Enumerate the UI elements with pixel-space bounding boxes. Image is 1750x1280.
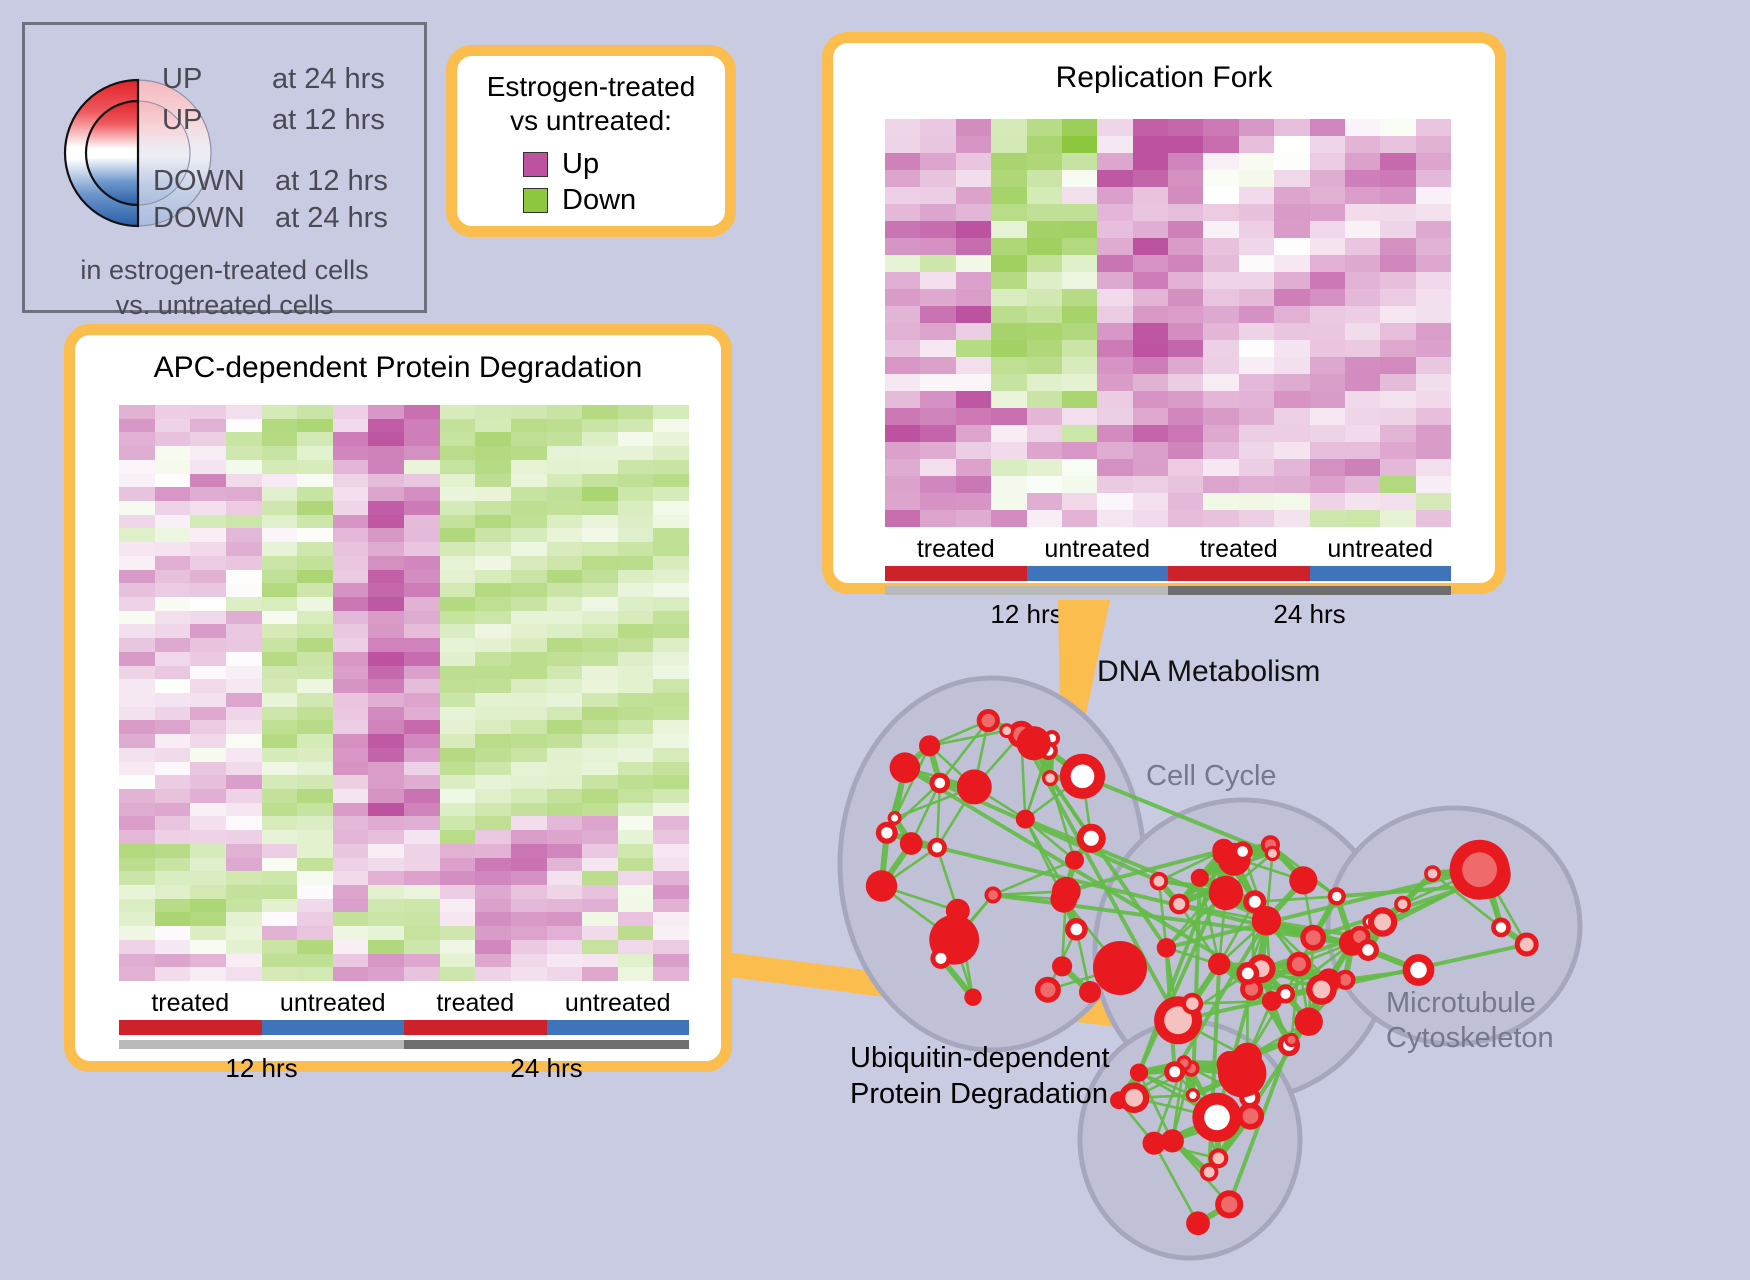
heatmap-cell	[119, 624, 155, 638]
network-node[interactable]	[1300, 925, 1326, 951]
network-node[interactable]	[1200, 1163, 1219, 1182]
heatmap-cell	[440, 570, 476, 584]
heatmap-cell	[1062, 476, 1097, 493]
heatmap-cell	[1345, 476, 1380, 493]
heatmap-cell	[1380, 340, 1415, 357]
network-node[interactable]	[1515, 933, 1539, 957]
heatmap-cell	[1310, 442, 1345, 459]
legend-item-down: Down	[523, 184, 725, 217]
heatmap-cell	[404, 474, 440, 488]
network-node[interactable]	[927, 838, 947, 858]
network-node[interactable]	[1306, 974, 1337, 1005]
heatmap-cell	[119, 405, 155, 419]
network-node[interactable]	[1243, 890, 1266, 913]
heatmap-cell	[404, 940, 440, 954]
network-node[interactable]	[1182, 993, 1204, 1015]
heatmap-cell	[119, 528, 155, 542]
heatmap-cell	[1345, 357, 1380, 374]
heatmap-cell	[991, 323, 1026, 340]
heatmap-cell	[440, 624, 476, 638]
network-node[interactable]	[1052, 956, 1072, 976]
network-node[interactable]	[1213, 844, 1234, 865]
heatmap-cell	[297, 611, 333, 625]
heatmap-cell	[1168, 442, 1203, 459]
heatmap-cell	[547, 775, 583, 789]
heatmap-cell	[262, 542, 298, 556]
heatmap-cell	[333, 611, 369, 625]
node-inner-core	[1040, 982, 1055, 997]
network-node[interactable]	[1295, 1008, 1323, 1036]
network-node[interactable]	[1328, 887, 1346, 905]
heatmap-cell	[368, 679, 404, 693]
heatmap-cell	[1416, 442, 1451, 459]
heatmap-cell	[262, 830, 298, 844]
network-node[interactable]	[1161, 1129, 1184, 1152]
heatmap-cell	[119, 556, 155, 570]
network-node[interactable]	[1209, 876, 1243, 910]
heatmap-cell	[511, 967, 547, 981]
timepoint-label: 12 hrs	[119, 1053, 404, 1084]
heatmap-cell	[440, 830, 476, 844]
heatmap-cell	[475, 748, 511, 762]
network-node[interactable]	[999, 723, 1014, 738]
heatmap-cell	[262, 652, 298, 666]
heatmap-cell	[226, 858, 262, 872]
heatmap-cell	[475, 652, 511, 666]
heatmap-cell	[119, 871, 155, 885]
heatmap-cell	[547, 624, 583, 638]
heatmap-cell	[991, 255, 1026, 272]
network-node[interactable]	[1357, 939, 1379, 961]
network-node[interactable]	[957, 769, 992, 804]
network-node[interactable]	[1186, 1088, 1200, 1102]
network-node[interactable]	[1450, 840, 1510, 900]
network-node[interactable]	[890, 752, 921, 783]
heatmap-cell	[404, 858, 440, 872]
legend-key-up-12: UP	[162, 104, 202, 137]
heatmap-cell	[653, 666, 689, 680]
heatmap-cell	[1345, 425, 1380, 442]
network-node[interactable]	[1186, 1211, 1210, 1235]
heatmap-cell	[1274, 187, 1309, 204]
node-outer-ring	[1157, 938, 1176, 957]
heatmap-cell	[155, 528, 191, 542]
heatmap-cell	[190, 762, 226, 776]
heatmap-cell	[1310, 306, 1345, 323]
condition-bar-replication-fork	[885, 566, 1451, 581]
heatmap-cell	[475, 638, 511, 652]
heatmap-cell	[1203, 153, 1238, 170]
heatmap-cell	[1062, 493, 1097, 510]
panel-replication-fork: Replication Fork treateduntreatedtreated…	[822, 32, 1506, 594]
heatmap-cell	[511, 871, 547, 885]
heatmap-cell	[1097, 255, 1132, 272]
heatmap-cell	[653, 419, 689, 433]
heatmap-cell	[1097, 459, 1132, 476]
network-node[interactable]	[1265, 846, 1280, 861]
heatmap-cell	[155, 954, 191, 968]
heatmap-cell	[190, 583, 226, 597]
heatmap-cell	[440, 789, 476, 803]
heatmap-cell	[440, 954, 476, 968]
network-node[interactable]	[1016, 810, 1035, 829]
network-node[interactable]	[1093, 941, 1147, 995]
heatmap-cell	[1310, 374, 1345, 391]
heatmap-cell	[991, 136, 1026, 153]
network-node[interactable]	[1065, 918, 1088, 941]
heatmap-cell	[404, 624, 440, 638]
heatmap-cell	[1239, 255, 1274, 272]
heatmap-cell	[333, 816, 369, 830]
heatmap-cell	[226, 926, 262, 940]
heatmap-cell	[1380, 221, 1415, 238]
heatmap-cell	[618, 652, 654, 666]
legend-caption-line1: in estrogen-treated cells	[25, 253, 424, 288]
network-node[interactable]	[1191, 869, 1209, 887]
heatmap-cell	[155, 858, 191, 872]
node-outer-ring	[900, 832, 923, 855]
node-inner-core	[1268, 849, 1277, 858]
heatmap-cell	[404, 748, 440, 762]
heatmap-cell	[653, 926, 689, 940]
heatmap-cell	[1274, 493, 1309, 510]
heatmap-cell	[547, 528, 583, 542]
heatmap-cell	[1345, 459, 1380, 476]
network-node[interactable]	[1284, 1033, 1298, 1047]
heatmap-cell	[297, 679, 333, 693]
heatmap-cell	[440, 885, 476, 899]
heatmap-cell	[368, 926, 404, 940]
network-node[interactable]	[1192, 1093, 1241, 1142]
heatmap-cell	[1062, 170, 1097, 187]
heatmap-cell	[262, 666, 298, 680]
heatmap-cell	[262, 501, 298, 515]
heatmap-cell	[1027, 408, 1062, 425]
network-node[interactable]	[1042, 770, 1058, 786]
heatmap-cell	[1203, 272, 1238, 289]
network-node[interactable]	[1017, 726, 1051, 760]
node-outer-ring	[1218, 1049, 1266, 1097]
heatmap-cell	[440, 693, 476, 707]
heatmap-cell	[155, 432, 191, 446]
heatmap-cell	[1274, 272, 1309, 289]
heatmap-cell	[653, 487, 689, 501]
heatmap-cell	[368, 405, 404, 419]
heatmap-cell	[511, 556, 547, 570]
network-node[interactable]	[1287, 952, 1312, 977]
heatmap-cell	[582, 789, 618, 803]
heatmap-cell	[1239, 187, 1274, 204]
heatmap-cell	[155, 830, 191, 844]
heatmap-cell	[262, 748, 298, 762]
network-node[interactable]	[930, 773, 951, 794]
heatmap-cell	[1416, 153, 1451, 170]
heatmap-cell	[511, 775, 547, 789]
heatmap-cell	[333, 720, 369, 734]
network-node[interactable]	[876, 822, 898, 844]
heatmap-cell	[333, 954, 369, 968]
heatmap-cell	[368, 775, 404, 789]
network-node[interactable]	[1491, 918, 1511, 938]
heatmap-cell	[582, 775, 618, 789]
heatmap-cell	[262, 926, 298, 940]
heatmap-cell	[582, 748, 618, 762]
heatmap-cell	[333, 748, 369, 762]
node-outer-ring	[1052, 877, 1081, 906]
circle-legend-box: UP at 24 hrs UP at 12 hrs DOWN at 12 hrs…	[22, 22, 427, 313]
network-node[interactable]	[1169, 894, 1190, 915]
heatmap-cell	[368, 652, 404, 666]
heatmap-cell	[511, 419, 547, 433]
heatmap-cell	[119, 858, 155, 872]
network-node[interactable]	[1035, 977, 1061, 1003]
heatmap-cell	[1416, 119, 1451, 136]
network-node[interactable]	[1150, 872, 1169, 891]
heatmap-cell	[582, 693, 618, 707]
heatmap-cell	[1027, 221, 1062, 238]
heatmap-cell	[1097, 289, 1132, 306]
heatmap-cell	[1133, 187, 1168, 204]
heatmap-cell	[1380, 391, 1415, 408]
heatmap-cell	[155, 515, 191, 529]
node-inner-core	[1292, 957, 1306, 971]
heatmap-cell	[1203, 442, 1238, 459]
heatmap-cell	[262, 789, 298, 803]
network-node[interactable]	[977, 709, 1000, 732]
heatmap-cell	[1380, 272, 1415, 289]
heatmap-cell	[155, 707, 191, 721]
heatmap-cell	[404, 542, 440, 556]
network-node[interactable]	[1394, 896, 1411, 913]
network-node[interactable]	[1218, 1049, 1266, 1097]
network-node[interactable]	[1077, 824, 1106, 853]
heatmap-cell	[333, 666, 369, 680]
heatmap-cell	[333, 570, 369, 584]
heatmap-cell	[547, 501, 583, 515]
heatmap-cell	[1203, 391, 1238, 408]
heatmap-cell	[440, 967, 476, 981]
heatmap-cell	[618, 844, 654, 858]
heatmap-cell	[920, 119, 955, 136]
heatmap-cell	[262, 899, 298, 913]
heatmap-cell	[368, 885, 404, 899]
heatmap-cell	[1239, 408, 1274, 425]
heatmap-cell	[226, 679, 262, 693]
heatmap-cell	[475, 707, 511, 721]
network-node[interactable]	[1079, 981, 1101, 1003]
heatmap-cell	[885, 272, 920, 289]
heatmap-cell	[440, 446, 476, 460]
heatmap-cell	[226, 515, 262, 529]
network-node[interactable]	[1208, 953, 1230, 975]
heatmap-cell	[226, 816, 262, 830]
heatmap-cell	[190, 666, 226, 680]
legend-label-up: Up	[562, 148, 599, 181]
heatmap-cell	[119, 611, 155, 625]
heatmap-cell	[582, 954, 618, 968]
heatmap-cell	[404, 720, 440, 734]
heatmap-cell	[333, 734, 369, 748]
heatmap-cell	[885, 306, 920, 323]
heatmap-cell	[119, 885, 155, 899]
heatmap-cell	[511, 460, 547, 474]
network-node[interactable]	[900, 832, 923, 855]
heatmap-cell	[119, 460, 155, 474]
heatmap-cell	[1239, 510, 1274, 527]
heatmap-cell	[582, 844, 618, 858]
heatmap-cell	[885, 425, 920, 442]
heatmap-cell	[297, 899, 333, 913]
heatmap-cell	[653, 652, 689, 666]
heatmap-cell	[618, 912, 654, 926]
heatmap-cell	[226, 885, 262, 899]
heatmap-cell	[582, 515, 618, 529]
heatmap-cell	[155, 803, 191, 817]
heatmap-cell	[368, 830, 404, 844]
network-node[interactable]	[930, 948, 951, 969]
node-inner-core	[1186, 997, 1199, 1010]
heatmap-cell	[511, 816, 547, 830]
heatmap-cell	[262, 954, 298, 968]
heatmap-cell	[155, 446, 191, 460]
node-inner-core	[1204, 1167, 1215, 1178]
heatmap-cell	[1310, 119, 1345, 136]
heatmap-cell	[404, 528, 440, 542]
network-node[interactable]	[866, 870, 897, 901]
network-node[interactable]	[1215, 1190, 1243, 1218]
heatmap-cell	[618, 748, 654, 762]
heatmap-cell	[297, 926, 333, 940]
heatmap-cell	[1345, 221, 1380, 238]
heatmap-cell	[653, 693, 689, 707]
network-node[interactable]	[1276, 984, 1295, 1003]
heatmap-cell	[582, 638, 618, 652]
heatmap-cell	[885, 476, 920, 493]
heatmap-cell	[155, 940, 191, 954]
heatmap-cell	[1416, 238, 1451, 255]
heatmap-cell	[297, 570, 333, 584]
heatmap-cell	[1274, 238, 1309, 255]
network-node[interactable]	[985, 887, 1002, 904]
heatmap-cell	[1168, 510, 1203, 527]
network-node[interactable]	[1065, 851, 1084, 870]
heatmap-cell	[404, 789, 440, 803]
heatmap-cell	[653, 679, 689, 693]
heatmap-cell	[1239, 119, 1274, 136]
heatmap-cell	[262, 762, 298, 776]
timepoint-color-segment	[119, 1040, 404, 1049]
heatmap-cell	[1239, 323, 1274, 340]
heatmap-cell	[1062, 221, 1097, 238]
network-node[interactable]	[1232, 841, 1252, 861]
node-outer-ring	[919, 735, 940, 756]
network-node[interactable]	[1060, 754, 1105, 799]
node-inner-core	[1306, 930, 1321, 945]
network-node[interactable]	[1289, 866, 1317, 894]
updown-legend-card: Estrogen-treated vs untreated: Up Down	[446, 45, 736, 237]
heatmap-cell	[440, 803, 476, 817]
heatmap-cell	[119, 720, 155, 734]
heatmap-cell	[190, 501, 226, 515]
heatmap-cell	[582, 940, 618, 954]
heatmap-cell	[333, 446, 369, 460]
heatmap-cell	[582, 926, 618, 940]
node-inner-core	[1071, 923, 1083, 935]
heatmap-cell	[155, 693, 191, 707]
heatmap-cell	[582, 474, 618, 488]
heatmap-cell	[547, 858, 583, 872]
heatmap-cell	[1133, 442, 1168, 459]
heatmap-cell	[956, 187, 991, 204]
heatmap-cell	[368, 460, 404, 474]
heatmap-cell	[1097, 136, 1132, 153]
network-node[interactable]	[964, 989, 981, 1006]
heatmap-cell	[333, 871, 369, 885]
heatmap-cell	[440, 487, 476, 501]
heatmap-cell	[368, 419, 404, 433]
heatmap-cell	[547, 611, 583, 625]
heatmap-cell	[1133, 425, 1168, 442]
heatmap-cell	[440, 816, 476, 830]
heatmap-cell	[297, 666, 333, 680]
heatmap-cell	[1062, 272, 1097, 289]
network-node[interactable]	[1157, 938, 1176, 957]
heatmap-cell	[1097, 493, 1132, 510]
network-node[interactable]	[1368, 907, 1397, 936]
heatmap-cell	[1133, 238, 1168, 255]
heatmap-cell	[547, 515, 583, 529]
heatmap-cell	[1062, 374, 1097, 391]
heatmap-cell	[1380, 187, 1415, 204]
heatmap-cell	[547, 597, 583, 611]
heatmap-cell	[1062, 119, 1097, 136]
heatmap-cell	[920, 408, 955, 425]
network-node[interactable]	[946, 899, 970, 923]
heatmap-cell	[119, 899, 155, 913]
heatmap-cell	[333, 624, 369, 638]
heatmap-cell	[333, 707, 369, 721]
heatmap-cell	[404, 556, 440, 570]
heatmap-cell	[155, 474, 191, 488]
heatmap-cell	[618, 542, 654, 556]
heatmap-cell	[618, 789, 654, 803]
heatmap-cell	[1274, 323, 1309, 340]
network-node[interactable]	[888, 811, 902, 825]
heatmap-cell	[582, 542, 618, 556]
heatmap-cell	[226, 652, 262, 666]
heatmap-cell	[297, 967, 333, 981]
heatmap-cell	[262, 858, 298, 872]
cluster-label-ubiquitin-line1: Ubiquitin-dependent	[850, 1040, 1180, 1076]
network-node[interactable]	[1236, 962, 1259, 985]
heatmap-cell	[262, 611, 298, 625]
network-node[interactable]	[1424, 865, 1441, 882]
heatmap-cell	[475, 803, 511, 817]
network-node[interactable]	[1403, 954, 1435, 986]
heatmap-cell	[368, 954, 404, 968]
heatmap-cell	[440, 432, 476, 446]
heatmap-cell	[368, 597, 404, 611]
heatmap-cell	[547, 844, 583, 858]
heatmap-cell	[333, 474, 369, 488]
node-outer-ring	[1017, 726, 1051, 760]
heatmap-cell	[297, 871, 333, 885]
network-node[interactable]	[919, 735, 940, 756]
timepoint-labels-apc-dependent: 12 hrs24 hrs	[119, 1053, 689, 1084]
heatmap-cell	[190, 926, 226, 940]
heatmap-cell	[653, 460, 689, 474]
network-node[interactable]	[1052, 877, 1081, 906]
